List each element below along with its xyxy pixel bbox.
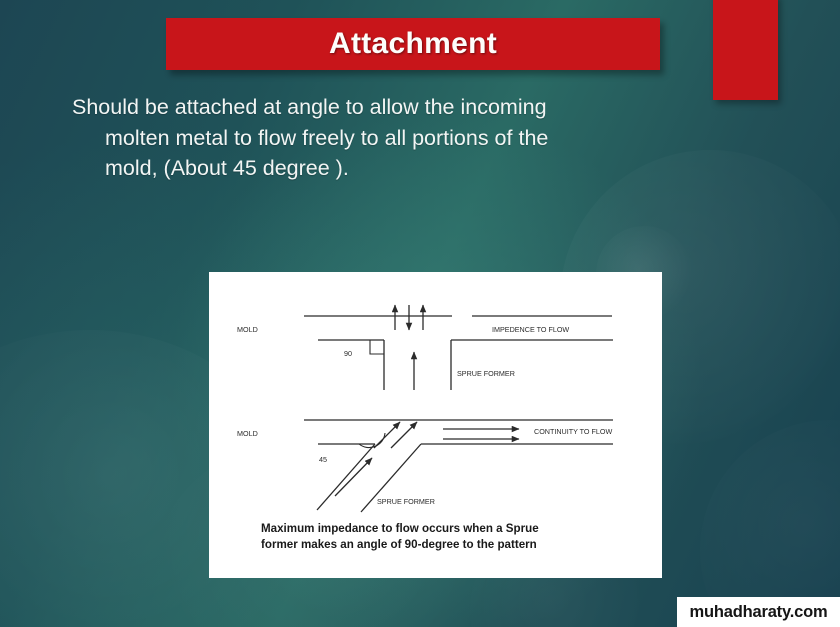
label-mold-top: MOLD [237, 325, 258, 334]
accent-block-decoration [713, 0, 778, 100]
page-title: Attachment [329, 27, 497, 61]
label-angle-90: 90 [344, 349, 352, 358]
watermark-bar: muhadharaty.com [677, 597, 840, 627]
title-banner: Attachment [166, 18, 660, 70]
body-paragraph: Should be attached at angle to allow the… [72, 92, 672, 184]
label-impedence-to-flow: IMPEDENCE TO FLOW [492, 325, 569, 334]
label-sprue-former-bottom: SPRUE FORMER [377, 497, 435, 506]
diagram-top-90deg: MOLD IMPEDENCE TO FLOW 90 SPRUE FORMER [237, 305, 613, 390]
figure-caption-line-2: former makes an angle of 90-degree to th… [261, 537, 621, 553]
diagram-bottom-45deg: MOLD CONTINUITY TO FLOW 45 SPRUE FORMER [237, 420, 613, 512]
body-line-3: mold, (About 45 degree ). [72, 153, 672, 184]
figure-caption-line-1: Maximum impedance to flow occurs when a … [261, 521, 621, 537]
label-mold-bottom: MOLD [237, 429, 258, 438]
watermark-text: muhadharaty.com [690, 603, 828, 622]
label-sprue-former-top: SPRUE FORMER [457, 369, 515, 378]
body-line-2: molten metal to flow freely to all porti… [72, 123, 672, 154]
figure-caption: Maximum impedance to flow occurs when a … [261, 521, 621, 554]
slide-canvas: Attachment Should be attached at angle t… [0, 0, 840, 627]
figure-panel: MOLD IMPEDENCE TO FLOW 90 SPRUE FORMER [209, 272, 662, 578]
bokeh-circle-5 [700, 420, 840, 627]
body-line-1: Should be attached at angle to allow the… [72, 92, 672, 123]
label-angle-45: 45 [319, 455, 327, 464]
label-continuity-to-flow: CONTINUITY TO FLOW [534, 427, 612, 436]
